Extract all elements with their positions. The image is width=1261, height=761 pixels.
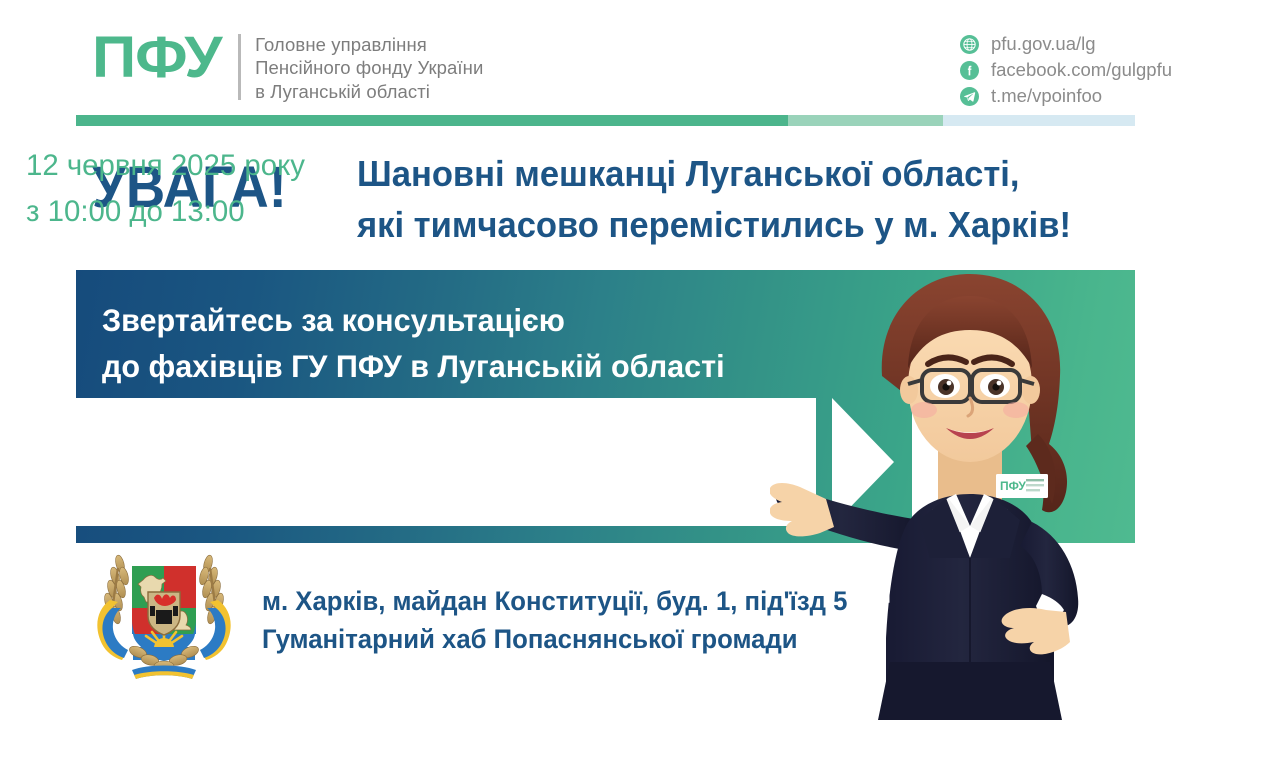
luhansk-coat-of-arms-icon: [88, 548, 240, 682]
banner-message: Звертайтесь за консультацією до фахівців…: [102, 298, 725, 389]
org-line-1: Головне управління: [255, 33, 483, 56]
divider-segment-green: [76, 115, 788, 126]
contact-list: pfu.gov.ua/lg facebook.com/gulgpfu t.me/…: [960, 30, 1172, 112]
poster-header: ПФУ Головне управління Пенсійного фонду …: [92, 30, 1172, 110]
chevron-left-icon: [832, 398, 894, 526]
headline-message: Шановні мешканці Луганської області, які…: [357, 148, 1071, 250]
globe-icon: [960, 35, 979, 54]
contact-website[interactable]: pfu.gov.ua/lg: [960, 34, 1172, 55]
telegram-url: t.me/vpoinfoo: [991, 87, 1102, 106]
banner-line-1: Звертайтесь за консультацією: [102, 298, 725, 344]
facebook-url: facebook.com/gulgpfu: [991, 61, 1172, 80]
header-divider-bar: [76, 115, 1135, 126]
organization-name: Головне управління Пенсійного фонду Укра…: [255, 30, 483, 103]
event-date: 12 червня 2025 року: [26, 143, 305, 189]
telegram-icon: [960, 87, 979, 106]
banner-line-2: до фахівців ГУ ПФУ в Луганській області: [102, 344, 725, 390]
chevron-left-icon: [912, 398, 974, 526]
divider-segment-pale-blue: [943, 115, 1135, 126]
pfu-logo: ПФУ: [92, 30, 221, 85]
divider-segment-light-green: [788, 115, 943, 126]
chevron-arrows: [814, 398, 1064, 526]
schedule-block: 12 червня 2025 року з 10:00 до 13:00: [26, 143, 305, 234]
address-line-2: Гуманітарний хаб Попаснянської громади: [262, 620, 847, 658]
facebook-icon: [960, 61, 979, 80]
info-banner: Звертайтесь за консультацією до фахівців…: [76, 270, 1135, 543]
headline-line-1: Шановні мешканці Луганської області,: [357, 148, 1071, 199]
website-url: pfu.gov.ua/lg: [991, 35, 1096, 54]
contact-telegram[interactable]: t.me/vpoinfoo: [960, 86, 1172, 107]
address-line-1: м. Харків, майдан Конституції, буд. 1, п…: [262, 582, 847, 620]
announcement-poster: ПФУ Головне управління Пенсійного фонду …: [0, 0, 1261, 761]
schedule-cutout: [76, 398, 816, 526]
contact-facebook[interactable]: facebook.com/gulgpfu: [960, 60, 1172, 81]
org-line-3: в Луганській області: [255, 80, 483, 103]
logo-divider: [238, 34, 241, 100]
brand-block: ПФУ Головне управління Пенсійного фонду …: [92, 30, 483, 103]
address-block: м. Харків, майдан Конституції, буд. 1, п…: [262, 548, 847, 658]
footer-block: м. Харків, майдан Конституції, буд. 1, п…: [88, 548, 866, 682]
chevron-left-icon: [752, 398, 814, 526]
headline-line-2: які тимчасово перемістились у м. Харків!: [357, 199, 1071, 250]
event-time: з 10:00 до 13:00: [26, 189, 305, 235]
org-line-2: Пенсійного фонду України: [255, 56, 483, 79]
